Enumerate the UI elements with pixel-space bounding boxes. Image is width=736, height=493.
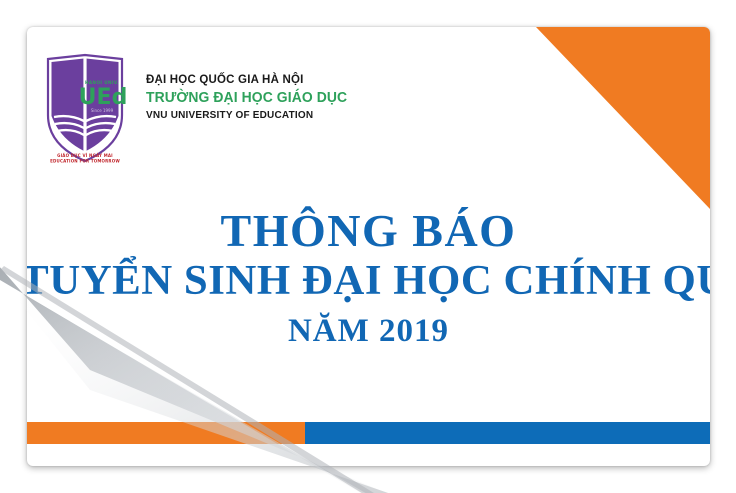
headline-year: NĂM 2019 (27, 305, 710, 358)
masthead-line-faculty: TRƯỜNG ĐẠI HỌC GIÁO DỤC (146, 89, 347, 109)
poster-canvas: HANOI UNIV. UEd Since 1999 GIÁO DỤC VÌ N… (0, 0, 736, 493)
masthead-line-vnu: ĐẠI HỌC QUỐC GIA HÀ NỘI (146, 73, 356, 89)
institution-logo-block: HANOI UNIV. UEd Since 1999 GIÁO DỤC VÌ N… (40, 53, 356, 165)
poster-card: HANOI UNIV. UEd Since 1999 GIÁO DỤC VÌ N… (27, 27, 710, 466)
headline-title: THÔNG BÁO (27, 205, 710, 257)
masthead-text: ĐẠI HỌC QUỐC GIA HÀ NỘI TRƯỜNG ĐẠI HỌC G… (146, 73, 356, 123)
masthead-line-english: VNU UNIVERSITY OF EDUCATION (146, 108, 356, 123)
svg-text:Since 1999: Since 1999 (91, 108, 114, 113)
svg-text:EDUCATION FOR TOMORROW: EDUCATION FOR TOMORROW (50, 159, 120, 164)
svg-text:UEd: UEd (79, 85, 128, 110)
bottom-accent-bars (27, 422, 710, 444)
headline-subtitle: TUYỂN SINH ĐẠI HỌC CHÍNH QUY (27, 257, 710, 305)
university-shield-icon: HANOI UNIV. UEd Since 1999 GIÁO DỤC VÌ N… (40, 53, 130, 165)
bottom-bar-blue (305, 422, 710, 444)
announcement-headline: THÔNG BÁO TUYỂN SINH ĐẠI HỌC CHÍNH QUY N… (27, 205, 710, 358)
corner-triangle-decoration (536, 27, 710, 209)
svg-text:GIÁO DỤC VÌ NGÀY MAI: GIÁO DỤC VÌ NGÀY MAI (57, 153, 113, 158)
bottom-bar-orange (27, 422, 305, 444)
